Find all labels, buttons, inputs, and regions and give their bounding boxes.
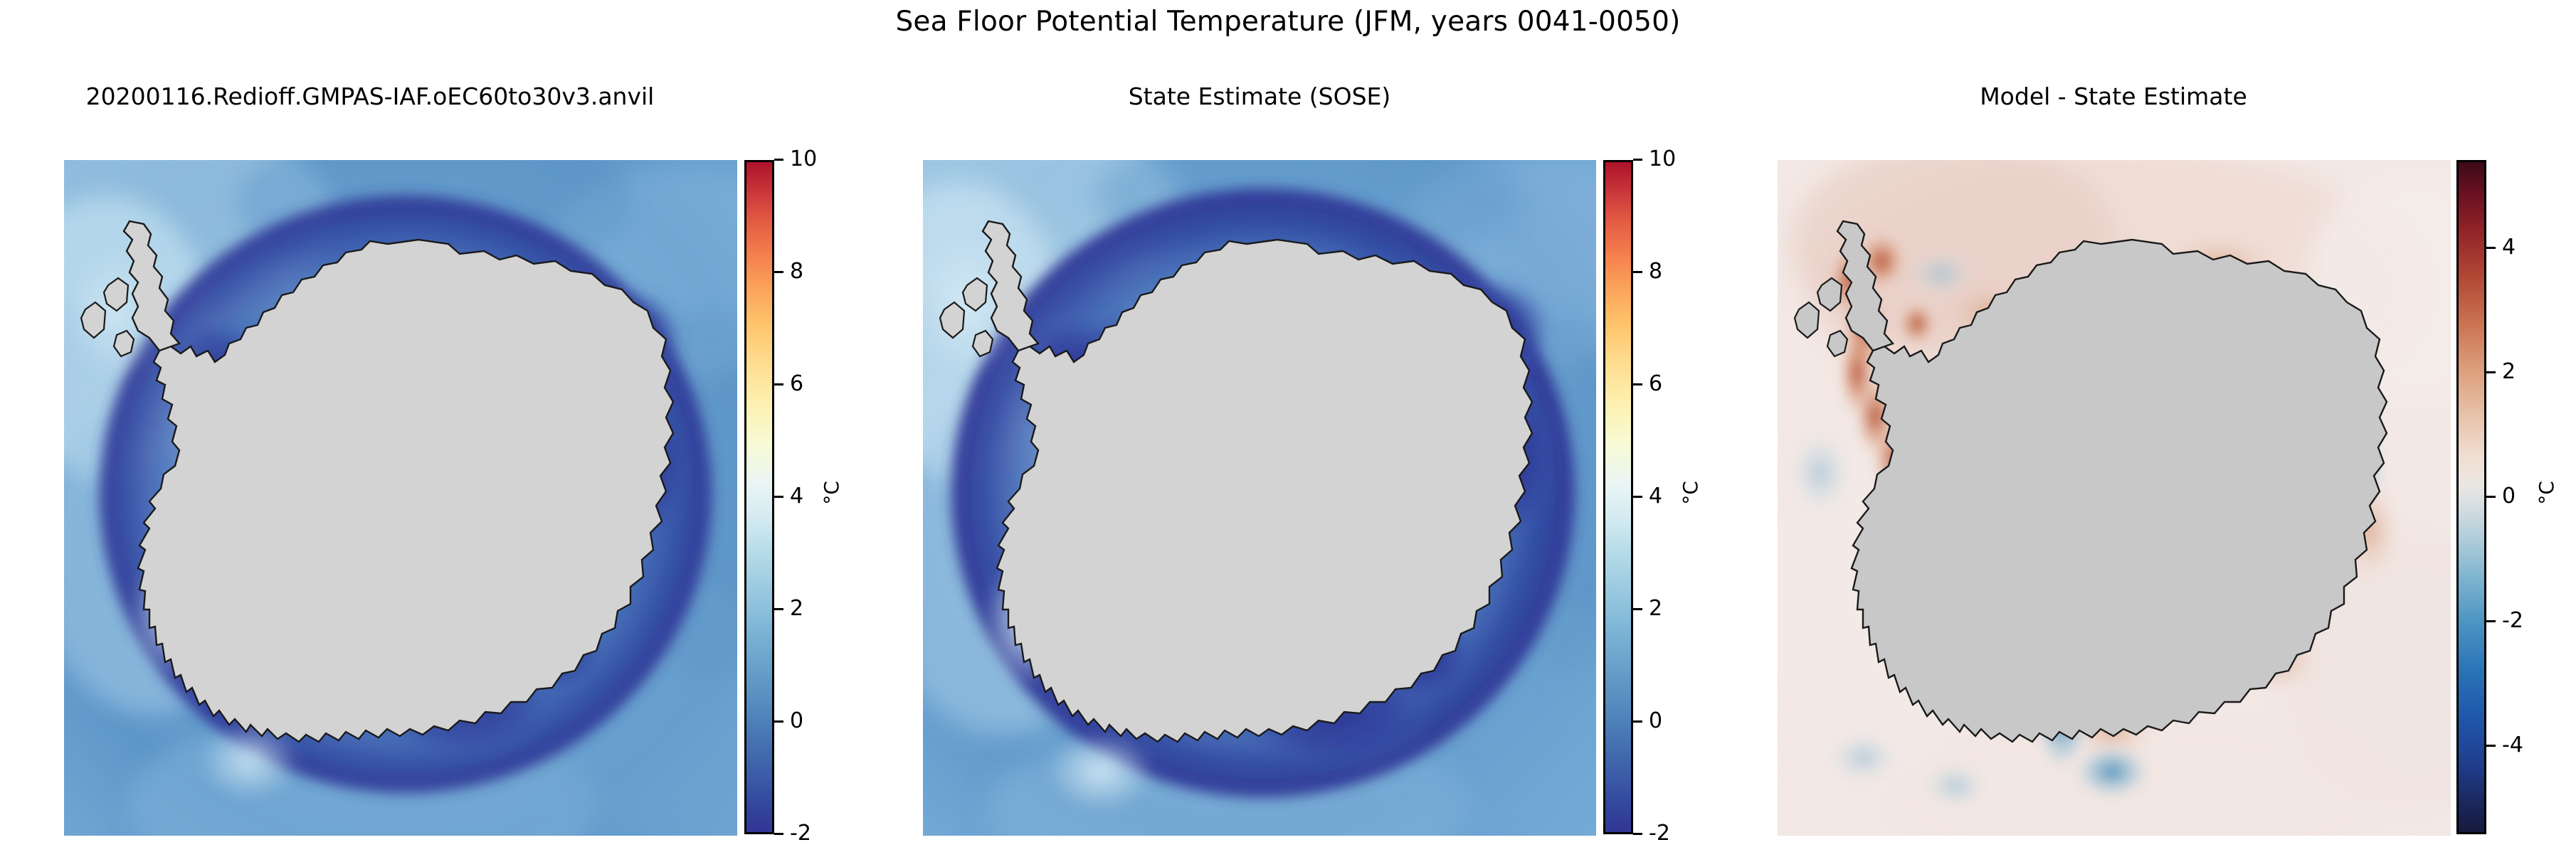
tick-mark xyxy=(1633,496,1642,498)
figure-suptitle: Sea Floor Potential Temperature (JFM, ye… xyxy=(0,6,2576,38)
tick-label: 6 xyxy=(790,370,803,398)
tick-label: -2 xyxy=(1649,819,1670,848)
tick-mark xyxy=(774,833,783,835)
tick-label: 10 xyxy=(790,145,817,174)
tick-label: 10 xyxy=(1649,145,1676,174)
tick-label: 4 xyxy=(1649,482,1662,511)
tick-mark xyxy=(2486,620,2496,622)
tick-label: 0 xyxy=(2502,482,2516,511)
tick-label: -2 xyxy=(790,819,811,848)
colorbar-model[interactable] xyxy=(744,160,774,834)
tick-mark xyxy=(1633,271,1642,273)
tick-mark xyxy=(774,720,783,723)
figure-canvas: Sea Floor Potential Temperature (JFM, ye… xyxy=(0,0,2576,862)
colorbar-ticks-model: -2 0 2 4 6 8 10 xyxy=(774,160,860,834)
tick-mark xyxy=(1633,608,1642,610)
tick-label: 4 xyxy=(790,482,803,511)
tick-label: 2 xyxy=(1649,595,1662,623)
tick-mark xyxy=(2486,745,2496,747)
colorbar-difference[interactable] xyxy=(2456,160,2486,834)
tick-label: 8 xyxy=(790,257,803,286)
tick-mark xyxy=(1633,383,1642,385)
colorbar-unit-model: °C xyxy=(820,481,843,505)
tick-mark xyxy=(2486,247,2496,249)
tick-label: 0 xyxy=(1649,707,1662,735)
tick-mark xyxy=(774,496,783,498)
tick-mark xyxy=(2486,371,2496,373)
map-canvas-difference xyxy=(1777,160,2451,836)
tick-label: 6 xyxy=(1649,370,1662,398)
map-canvas-observations xyxy=(922,160,1597,836)
tick-mark xyxy=(1633,833,1642,835)
tick-label: 2 xyxy=(2502,358,2516,386)
tick-mark xyxy=(774,271,783,273)
colorbar-unit-observations: °C xyxy=(1679,481,1702,505)
map-canvas-model xyxy=(64,160,737,836)
tick-label: 0 xyxy=(790,707,803,735)
tick-mark xyxy=(774,383,783,385)
tick-label: 4 xyxy=(2502,233,2516,262)
map-model[interactable] xyxy=(64,160,737,836)
map-observations[interactable] xyxy=(922,160,1597,836)
tick-label: -4 xyxy=(2502,731,2523,760)
colorbar-ticks-difference: -4 -2 0 2 4 xyxy=(2486,160,2572,834)
tick-label: 8 xyxy=(1649,257,1662,286)
panel-title-observations: State Estimate (SOSE) xyxy=(882,83,1637,110)
colorbar-unit-difference: °C xyxy=(2535,481,2558,505)
map-difference[interactable] xyxy=(1777,160,2451,836)
panel-title-model: 20200116.Redioff.GMPAS-IAF.oEC60to30v3.a… xyxy=(0,83,875,110)
tick-label: 2 xyxy=(790,595,803,623)
tick-mark xyxy=(774,608,783,610)
tick-mark xyxy=(1633,159,1642,161)
panel-title-difference: Model - State Estimate xyxy=(1736,83,2491,110)
tick-label: -2 xyxy=(2502,607,2523,635)
tick-mark xyxy=(2486,496,2496,498)
colorbar-observations[interactable] xyxy=(1603,160,1633,834)
tick-mark xyxy=(1633,720,1642,723)
colorbar-ticks-observations: -2 0 2 4 6 8 10 xyxy=(1633,160,1719,834)
tick-mark xyxy=(774,159,783,161)
